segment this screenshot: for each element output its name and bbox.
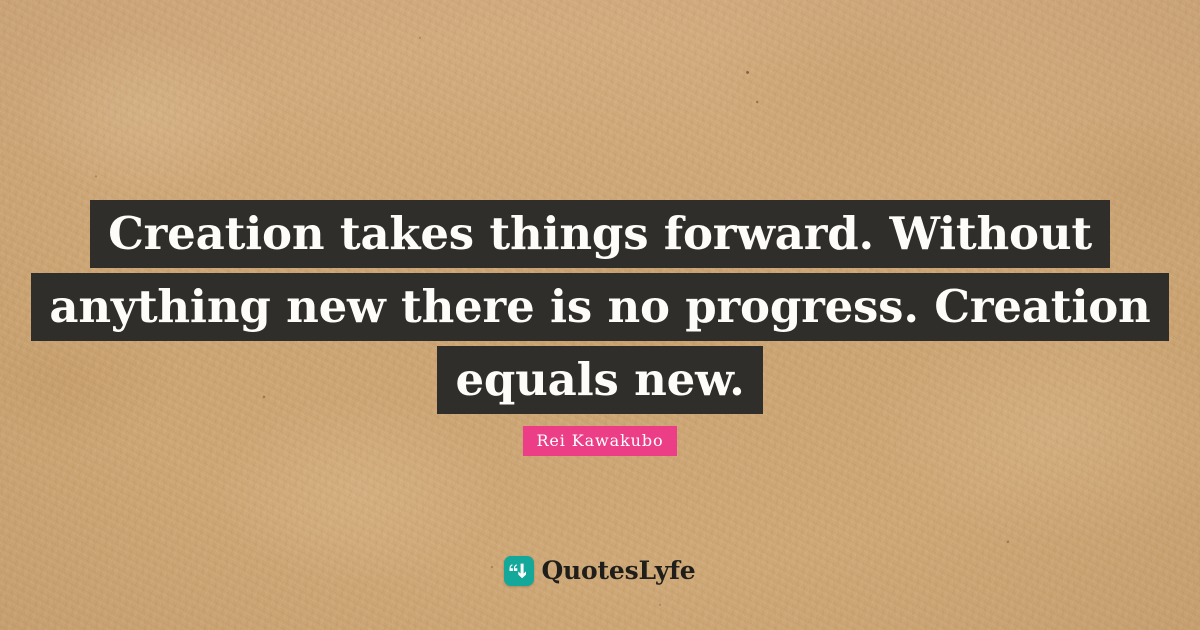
author-attribution: Rei Kawakubo bbox=[0, 426, 1200, 456]
brand-name: QuotesLyfe bbox=[541, 557, 695, 585]
quote-line-3: equals new. bbox=[437, 346, 762, 414]
quote-mark-icon bbox=[504, 556, 534, 586]
poster-content: Creation takes things forward. Without a… bbox=[0, 0, 1200, 630]
author-name-badge: Rei Kawakubo bbox=[523, 426, 676, 456]
quote-text: Creation takes things forward. Without a… bbox=[0, 200, 1200, 414]
quote-line-1: Creation takes things forward. Without bbox=[90, 200, 1110, 268]
quote-poster: Creation takes things forward. Without a… bbox=[0, 0, 1200, 630]
quote-line-2: anything new there is no progress. Creat… bbox=[31, 273, 1168, 341]
brand-watermark: QuotesLyfe bbox=[0, 556, 1200, 586]
